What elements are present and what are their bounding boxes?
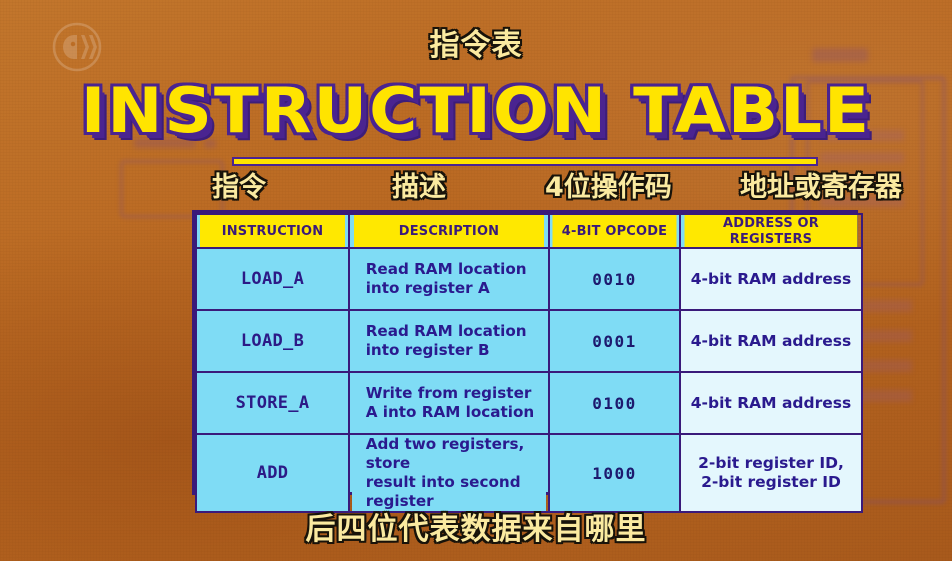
- cell-description-line1: Write from register: [366, 384, 546, 403]
- table-row: STORE_A Write from register A into RAM l…: [196, 372, 862, 434]
- cell-instruction: LOAD_B: [196, 310, 349, 372]
- column-header-description: DESCRIPTION: [353, 214, 545, 248]
- cell-address-line2: 2-bit register ID: [681, 473, 861, 492]
- title-underline-bar: [232, 157, 818, 166]
- cell-description-line2: result into second register: [366, 473, 546, 511]
- page-title-chinese: 指令表: [0, 29, 952, 63]
- chinese-caption-description: 描述: [392, 172, 446, 204]
- cell-description-line1: Read RAM location: [366, 322, 546, 341]
- cell-description: Read RAM location into register A: [351, 248, 547, 310]
- table-header-row: INSTRUCTION DESCRIPTION 4-BIT OPCODE ADD…: [196, 214, 862, 248]
- chinese-caption-address: 地址或寄存器: [740, 172, 902, 204]
- cell-description-line2: A into RAM location: [366, 403, 546, 422]
- cell-address-line1: 4-bit RAM address: [681, 332, 861, 351]
- cell-address: 4-bit RAM address: [680, 310, 862, 372]
- chinese-column-captions: 指令 描述 4位操作码 地址或寄存器: [0, 172, 952, 208]
- cell-address: 4-bit RAM address: [680, 372, 862, 434]
- column-header-instruction: INSTRUCTION: [199, 214, 346, 248]
- cell-opcode: 0010: [549, 248, 680, 310]
- cell-description: Read RAM location into register B: [351, 310, 547, 372]
- cell-opcode: 0100: [549, 372, 680, 434]
- cell-address-line1: 4-bit RAM address: [681, 270, 861, 289]
- cell-description-line2: into register B: [366, 341, 546, 360]
- cell-instruction: ADD: [196, 434, 349, 512]
- cell-address-line1: 4-bit RAM address: [681, 394, 861, 413]
- cell-description: Write from register A into RAM location: [351, 372, 547, 434]
- page-title: INSTRUCTION TABLE: [0, 76, 952, 146]
- cell-address: 2-bit register ID, 2-bit register ID: [680, 434, 862, 512]
- table-row: LOAD_A Read RAM location into register A…: [196, 248, 862, 310]
- cell-description-line2: into register A: [366, 279, 546, 298]
- subtitle-bottom: 后四位代表数据来自哪里: [0, 512, 952, 548]
- table-row: ADD Add two registers, store result into…: [196, 434, 862, 512]
- cell-description: Add two registers, store result into sec…: [351, 434, 547, 512]
- instruction-table: INSTRUCTION DESCRIPTION 4-BIT OPCODE ADD…: [192, 210, 858, 495]
- video-frame: 指令表 INSTRUCTION TABLE 指令 描述 4位操作码 地址或寄存器…: [0, 0, 952, 561]
- chinese-caption-instruction: 指令: [212, 172, 266, 204]
- cell-instruction: STORE_A: [196, 372, 349, 434]
- background-diagram-stripe-2: [820, 152, 904, 163]
- cell-opcode: 1000: [549, 434, 680, 512]
- chinese-caption-opcode: 4位操作码: [545, 172, 672, 204]
- cell-description-line1: Read RAM location: [366, 260, 546, 279]
- table-row: LOAD_B Read RAM location into register B…: [196, 310, 862, 372]
- cell-address: 4-bit RAM address: [680, 248, 862, 310]
- cell-address-line1: 2-bit register ID,: [681, 454, 861, 473]
- column-header-opcode: 4-BIT OPCODE: [552, 214, 678, 248]
- column-header-address: ADDRESS OR REGISTERS: [684, 214, 859, 248]
- cell-instruction: LOAD_A: [196, 248, 349, 310]
- cell-description-line1: Add two registers, store: [366, 435, 546, 473]
- cell-opcode: 0001: [549, 310, 680, 372]
